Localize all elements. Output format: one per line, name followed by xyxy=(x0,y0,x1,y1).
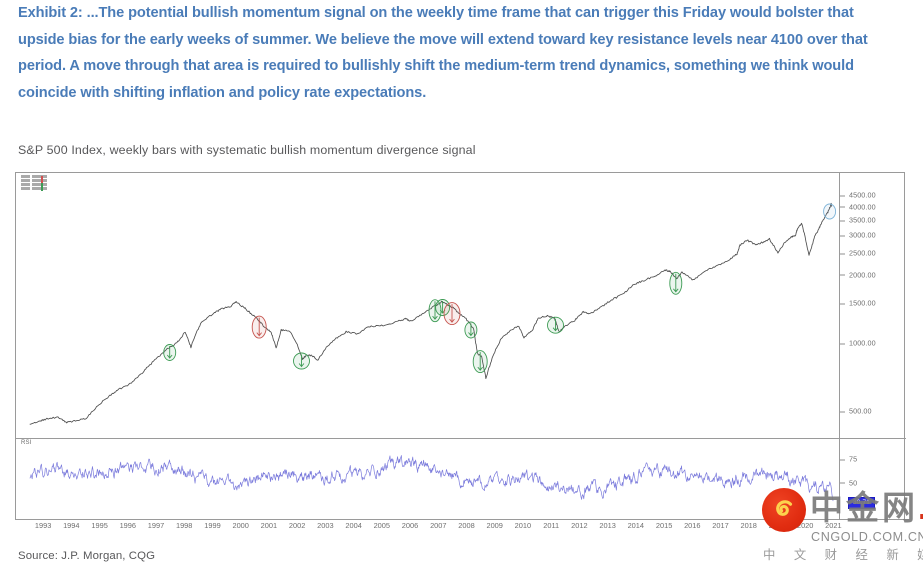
x-axis-tick: 1997 xyxy=(148,521,164,530)
x-axis-tick: 2000 xyxy=(232,521,248,530)
x-axis-tick: 2012 xyxy=(571,521,587,530)
x-axis-tick: 2019 xyxy=(769,521,785,530)
x-axis-tick: 1999 xyxy=(204,521,220,530)
x-axis-tick: 2003 xyxy=(317,521,333,530)
watermark-dot: . xyxy=(918,489,923,526)
rsi-current-value-badge: 30.71 xyxy=(848,497,875,509)
current-signal-marker xyxy=(824,204,836,219)
x-axis-tick: 2021 xyxy=(825,521,841,530)
x-axis-tick: 1995 xyxy=(91,521,107,530)
x-axis-tick: 2018 xyxy=(740,521,756,530)
divergence-signal-marker xyxy=(252,316,266,338)
divergence-signal-marker xyxy=(548,317,564,333)
price-series-plot xyxy=(16,173,906,439)
x-axis-tick: 1994 xyxy=(63,521,79,530)
x-axis: 1993199419951996199719981999200020012002… xyxy=(15,521,905,535)
divergence-signal-marker xyxy=(465,322,477,338)
x-axis-tick: 2013 xyxy=(599,521,615,530)
x-axis-tick: 2014 xyxy=(628,521,644,530)
x-axis-tick: 1998 xyxy=(176,521,192,530)
rsi-series-plot xyxy=(16,439,906,519)
chart-subtitle: S&P 500 Index, weekly bars with systemat… xyxy=(18,143,476,157)
x-axis-tick: 2016 xyxy=(684,521,700,530)
x-axis-tick: 2009 xyxy=(486,521,502,530)
x-axis-tick: 2010 xyxy=(515,521,531,530)
x-axis-tick: 2011 xyxy=(543,521,559,530)
x-axis-tick: 2007 xyxy=(430,521,446,530)
x-axis-tick: 2001 xyxy=(261,521,277,530)
x-axis-tick: 2008 xyxy=(458,521,474,530)
divergence-signal-marker xyxy=(473,351,487,373)
price-panel: 4500.004000.003500.003000.002500.002000.… xyxy=(16,173,906,439)
watermark-slogan: 中 文 财 经 新 媒 体 xyxy=(763,545,923,563)
x-axis-tick: 1993 xyxy=(35,521,51,530)
exhibit-headline: Exhibit 2: ...The potential bullish mome… xyxy=(18,0,898,106)
x-axis-tick: 2005 xyxy=(374,521,390,530)
x-axis-tick: 2020 xyxy=(797,521,813,530)
source-note: Source: J.P. Morgan, CQG xyxy=(18,550,155,562)
chart-container: 4500.004000.003500.003000.002500.002000.… xyxy=(15,172,905,520)
rsi-panel: RSI 7550 30.71 xyxy=(16,439,906,519)
divergence-signal-marker xyxy=(444,303,460,325)
x-axis-tick: 2017 xyxy=(712,521,728,530)
x-axis-tick: 2006 xyxy=(402,521,418,530)
x-axis-tick: 2015 xyxy=(656,521,672,530)
divergence-signal-marker xyxy=(294,353,310,369)
x-axis-tick: 2002 xyxy=(289,521,305,530)
x-axis-tick: 2004 xyxy=(345,521,361,530)
x-axis-tick: 1996 xyxy=(120,521,136,530)
divergence-signal-marker xyxy=(670,272,682,294)
divergence-signal-marker xyxy=(164,345,176,361)
